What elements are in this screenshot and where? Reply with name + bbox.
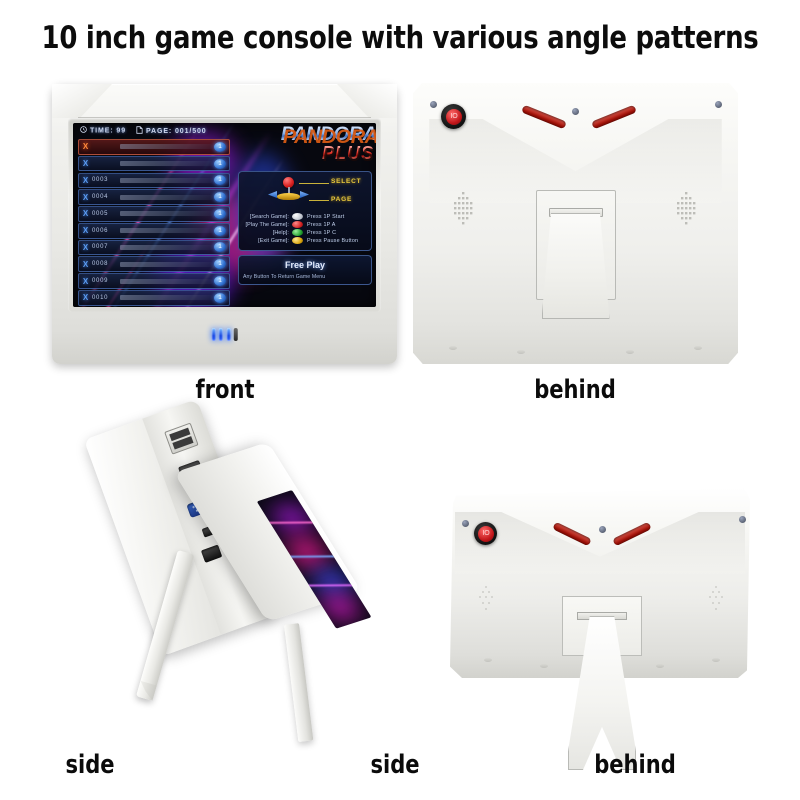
game-screen[interactable]: TIME: 99 PAGE: 001/500 X 1 X	[73, 123, 376, 307]
joystick-diagram: SELECT PAGE	[243, 176, 367, 212]
free-play-heading: Free Play	[243, 260, 367, 270]
list-item[interactable]: X 0006 1	[78, 223, 230, 239]
game-number: 0005	[92, 211, 118, 217]
game-title-bar	[120, 295, 212, 300]
screw-dot	[540, 664, 548, 668]
screw-dot	[626, 350, 634, 354]
game-marker-icon: X	[79, 226, 92, 235]
page-label: PAGE: 001/500	[146, 127, 207, 134]
game-marker-icon: X	[79, 277, 92, 286]
game-number: 0008	[92, 261, 118, 267]
speaker-grille-left	[447, 190, 481, 226]
list-item[interactable]: X 0007 1	[78, 240, 230, 256]
power-rocker-icon: I O	[446, 109, 462, 125]
led-indicator-strip	[211, 328, 238, 341]
pandora-plus-logo: PANDORA PLUS	[244, 124, 374, 170]
game-title-bar	[120, 178, 212, 183]
screw-dot	[517, 350, 525, 354]
coin-icon: 1	[214, 276, 226, 286]
game-title-bar	[120, 211, 212, 216]
help-action: Press Pause Button	[307, 238, 358, 244]
free-play-subtext: Any Button To Return Game Menu	[243, 274, 367, 280]
arcade-button-icon	[292, 237, 303, 244]
speaker-grille-left	[476, 584, 498, 612]
game-title-bar	[120, 245, 212, 250]
screw-dot	[712, 658, 720, 662]
kickstand-folded[interactable]	[542, 213, 610, 319]
help-row: [Help]: Press 1P C	[243, 229, 367, 236]
help-row: [Play The Game]: Press 1P A	[243, 221, 367, 228]
free-play-panel: Free Play Any Button To Return Game Menu	[238, 255, 372, 285]
coin-icon: 1	[214, 175, 226, 185]
page-title: 10 inch game console with various angle …	[28, 20, 772, 56]
kickstand-deployed[interactable]	[284, 623, 313, 742]
help-label: [Play The Game]:	[243, 222, 292, 228]
game-marker-icon: X	[79, 293, 92, 302]
game-marker-icon: X	[79, 260, 92, 269]
screw-dot	[572, 108, 579, 115]
help-panel: SELECT PAGE [Search Game]: Press 1P Star…	[238, 171, 372, 251]
screw-dot	[484, 658, 492, 662]
caption-front: front	[131, 375, 320, 405]
coin-icon: 1	[214, 226, 226, 236]
coin-icon: 1	[214, 259, 226, 269]
callout-select: SELECT	[331, 178, 361, 185]
time-label: TIME: 99	[90, 127, 126, 134]
callout-page: PAGE	[331, 196, 352, 203]
screw-dot	[430, 101, 437, 108]
game-title-bar	[120, 161, 212, 166]
logo-pandora-text: PANDORA	[281, 124, 376, 146]
power-rocker-icon: I O	[478, 526, 494, 542]
caption-behind-bottom: behind	[563, 750, 707, 780]
game-marker-icon: X	[79, 142, 92, 151]
list-item[interactable]: X 0009 1	[78, 273, 230, 289]
led-indicator	[234, 328, 238, 341]
page-icon	[136, 126, 143, 136]
game-number: 0010	[92, 295, 118, 301]
clock-icon	[80, 126, 87, 135]
screw-dot	[715, 101, 722, 108]
led-indicator	[211, 328, 215, 341]
list-item[interactable]: X 0005 1	[78, 206, 230, 222]
dc-power-port[interactable]	[201, 545, 222, 563]
game-title-bar	[120, 279, 212, 284]
page-indicator: PAGE: 001/500	[136, 126, 207, 136]
screw-dot	[656, 664, 664, 668]
game-marker-icon: X	[79, 243, 92, 252]
side-view-angled	[258, 428, 458, 738]
help-label: [Search Game]:	[243, 214, 292, 220]
game-number: 0009	[92, 278, 118, 284]
screw-dot	[462, 520, 469, 527]
game-marker-icon: X	[79, 209, 92, 218]
help-label: [Exit Game]:	[243, 238, 292, 244]
game-number: 0007	[92, 244, 118, 250]
power-switch[interactable]: I O	[441, 104, 466, 129]
screen-bezel: TIME: 99 PAGE: 001/500 X 1 X	[68, 118, 381, 312]
game-number: 0003	[92, 177, 118, 183]
coin-icon: 1	[214, 159, 226, 169]
help-action: Press 1P Start	[307, 214, 344, 220]
help-action: Press 1P C	[307, 230, 336, 236]
list-item[interactable]: X 1	[78, 139, 230, 155]
game-number: 0006	[92, 228, 118, 234]
led-indicator	[219, 328, 223, 341]
logo-plus-text: PLUS	[322, 143, 374, 164]
game-title-bar	[120, 195, 212, 200]
arcade-button-icon	[292, 213, 303, 220]
speaker-grille-right	[706, 584, 728, 612]
help-label: [Help]:	[243, 230, 292, 236]
caption-behind-top: behind	[481, 375, 670, 405]
screw-dot	[739, 516, 746, 523]
rear-view-with-stand: I O	[432, 488, 772, 778]
game-marker-icon: X	[79, 176, 92, 185]
usb-dual-port[interactable]	[164, 423, 199, 455]
list-item[interactable]: X 0010 1	[78, 290, 230, 306]
list-item[interactable]: X 0004 1	[78, 189, 230, 205]
screw-dot	[449, 346, 457, 350]
speaker-grille-right	[670, 190, 704, 226]
front-view-console: TIME: 99 PAGE: 001/500 X 1 X	[52, 84, 397, 364]
led-indicator	[226, 328, 230, 341]
list-item[interactable]: X 0003 1	[78, 173, 230, 189]
joystick-right-arrow-icon	[300, 191, 309, 198]
rear-view-console: I O	[413, 82, 738, 364]
list-item[interactable]: X 1	[78, 156, 230, 172]
front-lower-bezel	[68, 319, 381, 357]
coin-icon: 1	[214, 242, 226, 252]
game-list[interactable]: X 1 X 1 X 0003 1 X	[78, 139, 230, 307]
power-switch[interactable]: I O	[474, 522, 497, 545]
coin-icon: 1	[214, 293, 226, 303]
coin-icon: 1	[214, 142, 226, 152]
list-item[interactable]: X 0008 1	[78, 256, 230, 272]
coin-icon: 1	[214, 209, 226, 219]
game-marker-icon: X	[79, 193, 92, 202]
game-number: 0004	[92, 194, 118, 200]
coin-icon: 1	[214, 192, 226, 202]
game-marker-icon: X	[79, 159, 92, 168]
game-title-bar	[120, 228, 212, 233]
game-title-bar	[120, 144, 212, 149]
time-indicator: TIME: 99	[80, 126, 126, 135]
caption-side-left: side	[23, 750, 158, 780]
screw-dot	[599, 526, 606, 533]
help-row: [Exit Game]: Press Pause Button	[243, 237, 367, 244]
arcade-button-icon	[292, 229, 303, 236]
joystick-base	[277, 193, 300, 200]
game-title-bar	[120, 262, 212, 267]
help-row: [Search Game]: Press 1P Start	[243, 213, 367, 220]
screw-dot	[694, 346, 702, 350]
joystick-left-arrow-icon	[268, 191, 277, 198]
help-action: Press 1P A	[307, 222, 336, 228]
arcade-button-icon	[292, 221, 303, 228]
